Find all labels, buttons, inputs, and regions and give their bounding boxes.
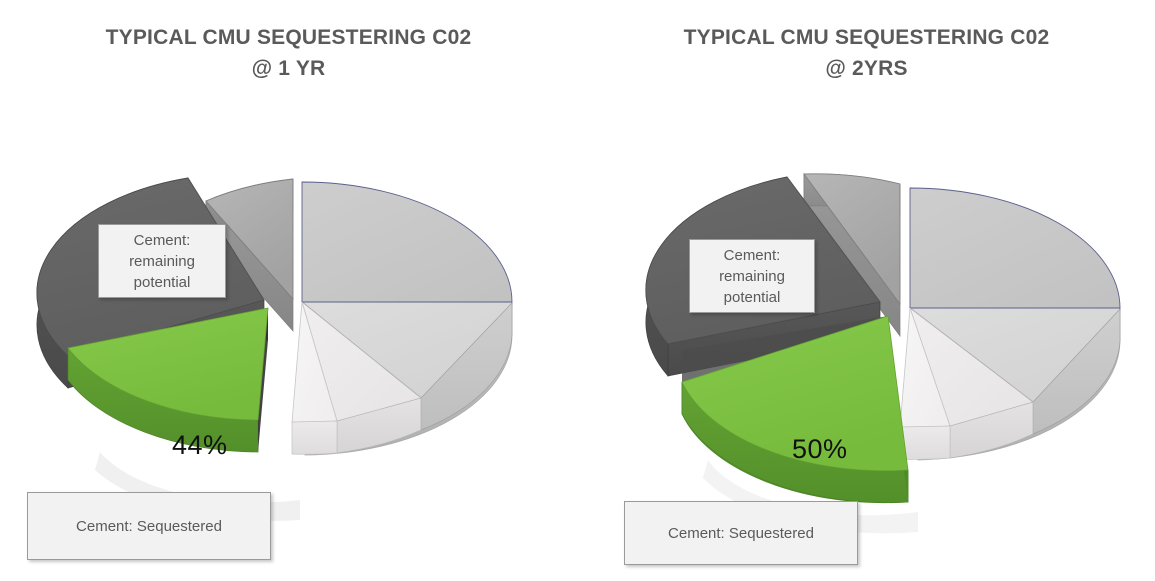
slide-canvas: TYPICAL CMU SEQUESTERING C02 @ 1 YR <box>0 0 1155 581</box>
callout-remaining-1yr-line2: remaining <box>129 251 195 272</box>
callout-sequestered-1yr-label: Cement: Sequestered <box>76 516 222 537</box>
data-label-sequestered-2yrs: 50% <box>792 434 848 465</box>
callout-remaining-potential-2yrs[interactable]: Cement: remaining potential <box>689 239 815 313</box>
callout-sequestered-2yrs-label: Cement: Sequestered <box>668 523 814 544</box>
chart-panel-1yr: TYPICAL CMU SEQUESTERING C02 @ 1 YR <box>0 0 577 581</box>
callout-remaining-2yrs-line2: remaining <box>719 266 785 287</box>
callout-sequestered-1yr[interactable]: Cement: Sequestered <box>27 492 271 560</box>
data-label-sequestered-1yr: 44% <box>172 430 228 461</box>
pie-svg-2yrs <box>578 0 1155 581</box>
callout-remaining-1yr-line1: Cement: <box>134 230 191 251</box>
callout-remaining-1yr-line3: potential <box>134 272 191 293</box>
pie-3d-2yrs <box>578 0 1155 581</box>
callout-sequestered-2yrs[interactable]: Cement: Sequestered <box>624 501 858 565</box>
chart-panel-2yrs: TYPICAL CMU SEQUESTERING C02 @ 2YRS <box>578 0 1155 581</box>
callout-remaining-2yrs-line1: Cement: <box>724 245 781 266</box>
callout-remaining-potential-1yr[interactable]: Cement: remaining potential <box>98 224 226 298</box>
callout-remaining-2yrs-line3: potential <box>724 287 781 308</box>
